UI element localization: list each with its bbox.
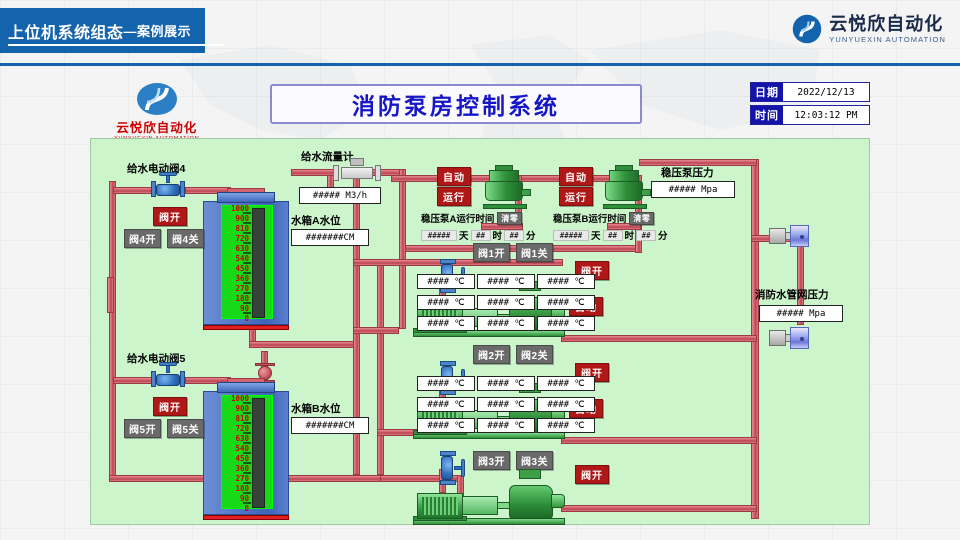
brand-name-en: YUNYUEXIN AUTOMATION [829, 36, 946, 44]
valve2-open-button[interactable]: 阀2开 [473, 345, 510, 364]
jockey-b-runtime-group: 稳压泵B运行时间 清零 ##### 天 ## 时 ## 分 [553, 211, 668, 242]
pump1-temp-3: #### ℃ [537, 274, 595, 289]
flowmeter-icon [333, 165, 381, 181]
scale-90: 90 [240, 305, 249, 313]
scale-450: 450 [235, 265, 249, 273]
jockey-a-reset-button[interactable]: 清零 [497, 212, 522, 225]
scale-630: 630 [235, 245, 249, 253]
company-logo-icon [135, 82, 179, 116]
jockey-a-minutes-value: ## [504, 230, 524, 241]
time-label: 时间 [751, 106, 783, 124]
valve5-open-button[interactable]: 阀5开 [124, 419, 161, 438]
jockey-a-hours-unit: 时 [493, 228, 503, 242]
water-tank-a: 1000 900 810 720 630 540 450 360 270 180… [203, 201, 289, 325]
scale-1000: 1000 [231, 395, 249, 403]
tank-b-base [203, 515, 289, 520]
scale-540: 540 [235, 255, 249, 263]
tank-a-lid [217, 192, 275, 203]
pipe-tankA-cross [249, 341, 355, 348]
jockey-a-runtime-label: 稳压泵A运行时间 [421, 211, 494, 225]
pump2-temp-7: #### ℃ [417, 418, 475, 433]
datetime-panel: 日期 2022/12/13 时间 12:03:12 PM [750, 82, 870, 128]
jockey-a-run: 运行 [437, 187, 471, 206]
jockey-b-mode[interactable]: 自动 [559, 167, 593, 186]
brand-logo: 云悦欣自动化 YUNYUEXIN AUTOMATION [792, 14, 946, 44]
jockey-b-hours-value: ## [603, 230, 623, 241]
jockey-a-mode[interactable]: 自动 [437, 167, 471, 186]
tank-b-level-column [252, 398, 265, 508]
pipe-left-riser [109, 181, 116, 481]
brand-name-cn: 云悦欣自动化 [829, 15, 946, 33]
mimic-diagram: 1000 900 810 720 630 540 450 360 270 180… [90, 138, 870, 525]
pump1-temp-5: #### ℃ [477, 295, 535, 310]
scale-180: 180 [235, 485, 249, 493]
pipe-p1-suction-v [107, 277, 114, 313]
scale-0: 0 [244, 315, 249, 323]
scale-90: 90 [240, 495, 249, 503]
scale-450: 450 [235, 455, 249, 463]
pipe-vert-3 [377, 259, 384, 475]
jockey-pump-b-icon [603, 165, 645, 209]
page-title-main: 上位机系统组态 [8, 19, 124, 43]
pump2-temps-row3: #### ℃ #### ℃ #### ℃ [417, 418, 595, 433]
page-title: 上位机系统组态—案例展示 [0, 8, 205, 53]
flowmeter-value: ##### M3/h [299, 187, 381, 204]
scale-540: 540 [235, 445, 249, 453]
title-underline [8, 44, 223, 46]
pump2-temp-6: #### ℃ [537, 397, 595, 412]
jockey-b-minutes-value: ## [636, 230, 656, 241]
tank-a-level-column [252, 208, 265, 318]
scale-720: 720 [235, 425, 249, 433]
tank-a-base [203, 325, 289, 330]
fire-pump-3-icon [413, 477, 565, 525]
scale-0: 0 [244, 505, 249, 513]
pipe-to-valve4 [113, 187, 153, 194]
pump2-temp-3: #### ℃ [537, 376, 595, 391]
pipe-p1-discharge [561, 335, 757, 342]
scale-180: 180 [235, 295, 249, 303]
header-divider [0, 63, 960, 66]
date-label: 日期 [751, 83, 783, 101]
pump1-temp-9: #### ℃ [537, 316, 595, 331]
valve5-close-button[interactable]: 阀5关 [167, 419, 204, 438]
jockey-b-minutes-unit: 分 [658, 228, 668, 242]
valve4-open-button[interactable]: 阀4开 [124, 229, 161, 248]
pipe-p3-discharge [561, 505, 757, 512]
date-row: 日期 2022/12/13 [750, 82, 870, 102]
jockey-a-runtime-group: 稳压泵A运行时间 清零 ##### 天 ## 时 ## 分 [421, 211, 536, 242]
tank-a-scale: 1000 900 810 720 630 540 450 360 270 180… [219, 205, 249, 325]
pump2-temp-9: #### ℃ [537, 418, 595, 433]
scale-360: 360 [235, 275, 249, 283]
pump2-temps-row1: #### ℃ #### ℃ #### ℃ [417, 376, 595, 391]
valve4-state: 阀开 [153, 207, 187, 226]
time-row: 时间 12:03:12 PM [750, 105, 870, 125]
valve5-state: 阀开 [153, 397, 187, 416]
hmi-header: 云悦欣自动化 YUNYUEXIN AUTOMATION 消防泵房控制系统 日期 … [90, 80, 870, 138]
pump1-temps-row2: #### ℃ #### ℃ #### ℃ [417, 295, 595, 310]
valve4-icon[interactable] [151, 180, 185, 198]
scale-360: 360 [235, 465, 249, 473]
pump2-temp-8: #### ℃ [477, 418, 535, 433]
date-value: 2022/12/13 [783, 83, 869, 101]
jockey-b-reset-button[interactable]: 清零 [629, 212, 654, 225]
network-pressure-label: 消防水管网压力 [755, 287, 829, 302]
pump1-temp-6: #### ℃ [537, 295, 595, 310]
jockey-pump-a-icon [483, 165, 525, 209]
tank-b-scale: 1000 900 810 720 630 540 450 360 270 180… [219, 395, 249, 515]
flowmeter-label: 给水流量计 [301, 149, 354, 164]
pump2-temp-5: #### ℃ [477, 397, 535, 412]
pressure-transmitter-top-icon [769, 225, 809, 247]
jockey-a-minutes-unit: 分 [526, 228, 536, 242]
scale-900: 900 [235, 405, 249, 413]
jockey-pressure-label: 稳压泵压力 [661, 165, 714, 180]
scale-630: 630 [235, 435, 249, 443]
jockey-a-days-value: ##### [421, 230, 457, 241]
tank-b-level-label: 水箱B水位 [291, 401, 341, 416]
pipe-tank-top-a [291, 169, 335, 176]
page-header: 上位机系统组态—案例展示 云悦欣自动化 YUNYUEXIN AUTOMATION [0, 0, 960, 62]
scale-810: 810 [235, 225, 249, 233]
valve1-close-button[interactable]: 阀1关 [516, 243, 553, 262]
valve2-close-button[interactable]: 阀2关 [516, 345, 553, 364]
scale-1000: 1000 [231, 205, 249, 213]
water-tank-b: 1000 900 810 720 630 540 450 360 270 180… [203, 391, 289, 515]
tank-b-level-value: #######CM [291, 417, 369, 434]
network-pressure-value: ##### Mpa [759, 305, 843, 322]
pump1-temps-row1: #### ℃ #### ℃ #### ℃ [417, 274, 595, 289]
company-logo-icon [792, 14, 822, 44]
pipe-feed-p1 [353, 327, 399, 334]
jockey-b-runtime-label: 稳压泵B运行时间 [553, 211, 626, 225]
pump2-temp-2: #### ℃ [477, 376, 535, 391]
jockey-pressure-value: ##### Mpa [651, 181, 735, 198]
tank-b-lid [217, 382, 275, 393]
valve1-open-button[interactable]: 阀1开 [473, 243, 510, 262]
pump2-temp-4: #### ℃ [417, 397, 475, 412]
scale-270: 270 [235, 475, 249, 483]
pipe-to-valve5 [113, 377, 153, 384]
valve3-close-button[interactable]: 阀3关 [516, 451, 553, 470]
scale-810: 810 [235, 415, 249, 423]
page-title-sub: —案例展示 [124, 21, 192, 40]
hmi-title: 消防泵房控制系统 [352, 87, 560, 121]
hmi-logo-cn: 云悦欣自动化 [116, 117, 197, 136]
pressure-transmitter-network-icon [769, 327, 809, 349]
tank-a-level-value: #######CM [291, 229, 369, 246]
pipe-p2-discharge [561, 437, 757, 444]
jockey-b-run: 运行 [559, 187, 593, 206]
valve4-close-button[interactable]: 阀4关 [167, 229, 204, 248]
pump1-temp-2: #### ℃ [477, 274, 535, 289]
pump2-temp-1: #### ℃ [417, 376, 475, 391]
time-value: 12:03:12 PM [783, 106, 869, 124]
pump1-temp-4: #### ℃ [417, 295, 475, 310]
pump1-temp-7: #### ℃ [417, 316, 475, 331]
pump1-temps-row3: #### ℃ #### ℃ #### ℃ [417, 316, 595, 331]
pump1-temp-8: #### ℃ [477, 316, 535, 331]
jockey-a-hours-value: ## [471, 230, 491, 241]
jockey-b-hours-unit: 时 [625, 228, 635, 242]
scale-900: 900 [235, 215, 249, 223]
jockey-a-days-unit: 天 [459, 228, 469, 242]
scale-270: 270 [235, 285, 249, 293]
hmi-title-box: 消防泵房控制系统 [270, 84, 642, 124]
jockey-b-days-value: ##### [553, 230, 589, 241]
pipe-feed-p2 [377, 429, 417, 436]
hmi-panel: 云悦欣自动化 YUNYUEXIN AUTOMATION 消防泵房控制系统 日期 … [90, 80, 870, 525]
pump1-temp-1: #### ℃ [417, 274, 475, 289]
jockey-b-days-unit: 天 [591, 228, 601, 242]
valve3-state: 阀开 [575, 465, 609, 484]
tank-a-level-label: 水箱A水位 [291, 213, 341, 228]
valve3-open-button[interactable]: 阀3开 [473, 451, 510, 470]
scale-720: 720 [235, 235, 249, 243]
hmi-logo: 云悦欣自动化 YUNYUEXIN AUTOMATION [114, 82, 199, 142]
pump2-temps-row2: #### ℃ #### ℃ #### ℃ [417, 397, 595, 412]
valve5-icon[interactable] [151, 370, 185, 388]
